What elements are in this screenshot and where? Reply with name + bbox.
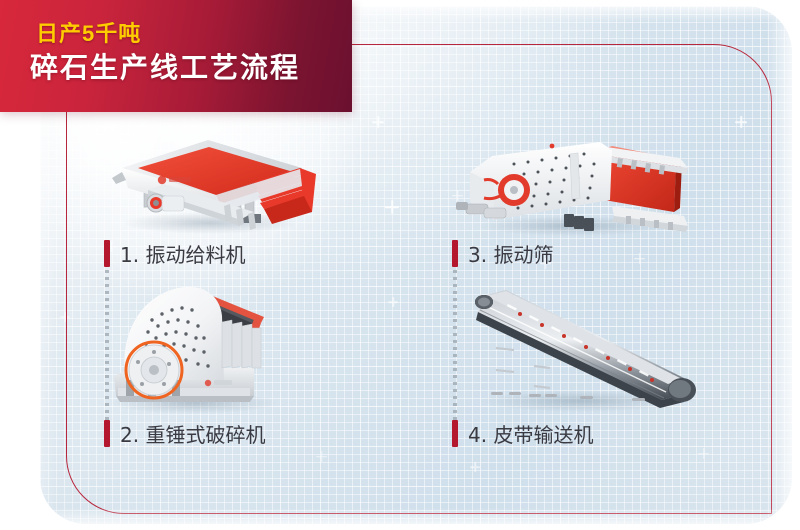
item-hammer-crusher[interactable]	[104, 276, 284, 412]
label-marker-bar	[452, 240, 458, 267]
label-marker-bar	[452, 420, 458, 447]
item-vibrating-feeder[interactable]	[104, 128, 324, 233]
hammer-crusher-icon	[104, 276, 284, 412]
banner-line-1: 日产5千吨	[36, 23, 141, 45]
item-label-text: 3. 振动筛	[468, 239, 553, 268]
banner-line-2: 碎石生产线工艺流程	[30, 54, 300, 82]
vibrating-feeder-icon	[104, 128, 324, 233]
label-item-1[interactable]: 1. 振动给料机	[104, 238, 245, 268]
poster-canvas: 1. 振动给料机	[0, 0, 800, 530]
item-vibrating-screen[interactable]	[452, 128, 692, 236]
belt-conveyor-icon	[462, 282, 700, 412]
label-item-3[interactable]: 3. 振动筛	[452, 238, 553, 268]
label-marker-bar	[104, 240, 110, 267]
item-label-text: 4. 皮带输送机	[468, 419, 593, 448]
item-label-text: 2. 重锤式破碎机	[120, 419, 265, 448]
label-item-2[interactable]: 2. 重锤式破碎机	[104, 418, 265, 448]
label-item-4[interactable]: 4. 皮带输送机	[452, 418, 593, 448]
title-banner: 日产5千吨 碎石生产线工艺流程	[0, 0, 352, 112]
label-marker-bar	[104, 420, 110, 447]
item-belt-conveyor[interactable]	[462, 282, 700, 412]
item-label-text: 1. 振动给料机	[120, 239, 245, 268]
vibrating-screen-icon	[452, 128, 692, 236]
connector-dots-right	[453, 270, 457, 422]
